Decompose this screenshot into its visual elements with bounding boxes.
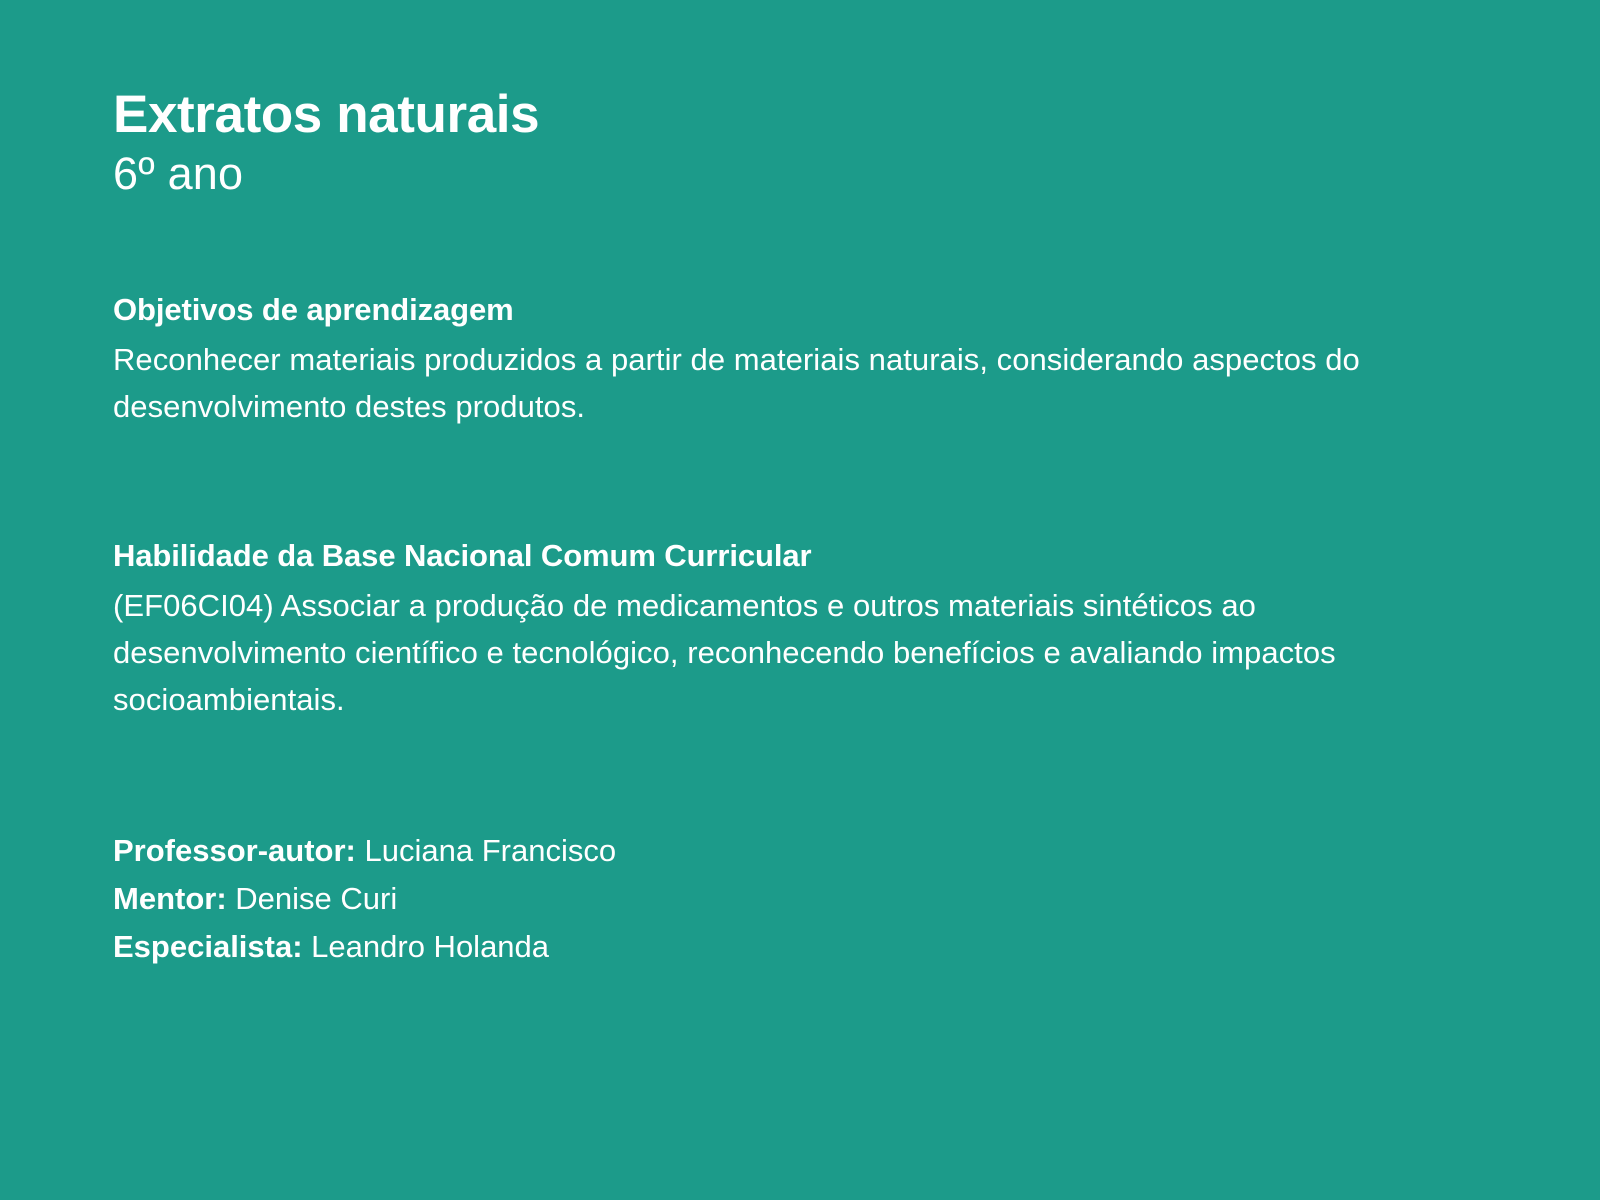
credit-label-mentor: Mentor:	[113, 881, 227, 916]
credit-label-professor-autor: Professor-autor:	[113, 833, 356, 868]
credit-label-especialista: Especialista:	[113, 929, 303, 964]
credit-value-especialista: Leandro Holanda	[311, 929, 549, 964]
title-block: Extratos naturais 6º ano	[113, 84, 1413, 202]
content-container: Extratos naturais 6º ano Objetivos de ap…	[113, 84, 1413, 971]
credit-value-professor-autor: Luciana Francisco	[365, 833, 617, 868]
section-heading-bncc: Habilidade da Base Nacional Comum Curric…	[113, 536, 1413, 576]
credit-value-mentor: Denise Curi	[235, 881, 397, 916]
slide-root: Extratos naturais 6º ano Objetivos de ap…	[0, 0, 1600, 1200]
section-bncc: Habilidade da Base Nacional Comum Curric…	[113, 536, 1413, 723]
page-title: Extratos naturais	[113, 84, 1413, 146]
credit-line-especialista: Especialista: Leandro Holanda	[113, 923, 1413, 971]
section-objetivos: Objetivos de aprendizagem Reconhecer mat…	[113, 290, 1413, 430]
page-subtitle: 6º ano	[113, 146, 1413, 202]
credit-line-professor-autor: Professor-autor: Luciana Francisco	[113, 827, 1413, 875]
credit-line-mentor: Mentor: Denise Curi	[113, 875, 1413, 923]
section-heading-objetivos: Objetivos de aprendizagem	[113, 290, 1413, 330]
credits-block: Professor-autor: Luciana Francisco Mento…	[113, 827, 1413, 971]
section-body-objetivos: Reconhecer materiais produzidos a partir…	[113, 336, 1398, 430]
section-body-bncc: (EF06CI04) Associar a produção de medica…	[113, 582, 1398, 723]
